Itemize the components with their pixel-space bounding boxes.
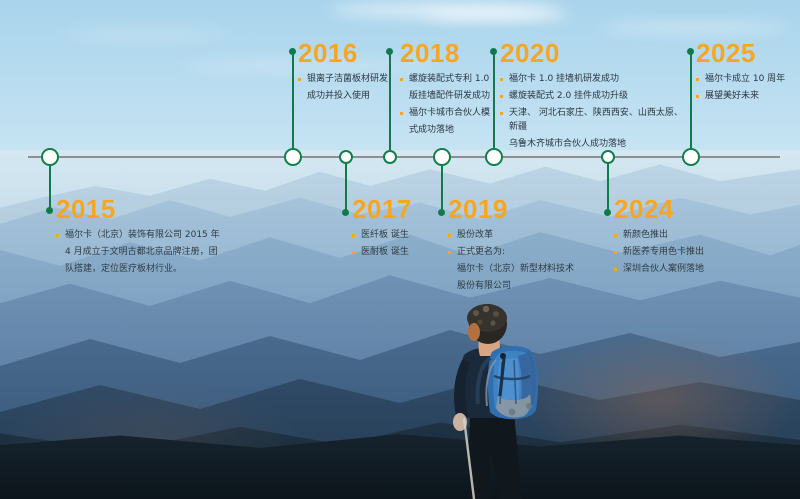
hiker-figure [430,300,560,499]
bullet-list-2024: 新颜色推出 新医养专用色卡推出 深圳合伙人案例落地 [614,229,744,277]
bullet-item-continuation: 队搭建，定位医疗板材行业。 [56,263,256,277]
bullet-list-2016: 银离子洁菌板材研发 成功并投入使用 [298,73,394,104]
timeline-entry-2020: 2020 福尔卡 1.0 挂墙机研发成功 螺旋装配式 2.0 挂件成功升级 天津… [500,40,690,155]
timeline-entry-2024: 2024 新颜色推出 新医养专用色卡推出 深圳合伙人案例落地 [614,196,744,280]
year-label-2024: 2024 [614,196,744,222]
timeline-stem-2017 [345,164,347,212]
bullet-list-2015: 福尔卡（北京）装饰有限公司 2015 年 4 月成立于文明古都北京品牌注册，团 … [56,229,256,277]
timeline-stem-2015 [49,166,51,210]
bullet-list-2025: 福尔卡成立 10 周年 展望美好未来 [696,73,796,104]
timeline-node-2018[interactable] [383,150,397,164]
bullet-item: 天津、 河北石家庄、陕西西安、山西太原、新疆 [500,107,690,135]
bullet-item-continuation: 股份有限公司 [448,280,588,294]
bullet-list-2019: 股份改革 正式更名为: 福尔卡（北京）新型材料技术 股份有限公司 [448,229,588,294]
timeline-stem-2024 [607,164,609,212]
year-label-2019: 2019 [448,196,588,222]
bullet-item: 螺旋装配式 2.0 挂件成功升级 [500,90,690,104]
bullet-item: 展望美好未来 [696,90,796,104]
timeline-node-2017[interactable] [339,150,353,164]
timeline-stem-dot-2016 [289,48,296,55]
year-label-2025: 2025 [696,40,796,66]
bullet-item: 螺旋装配式专利 1.0 [400,73,500,87]
timeline-node-2019[interactable] [433,148,451,166]
timeline-axis [28,156,780,158]
cloud-wisp [600,22,790,34]
bullet-item-continuation: 福尔卡（北京）新型材料技术 [448,263,588,277]
bullet-item-continuation: 式成功落地 [400,124,500,138]
bullet-item: 福尔卡 1.0 挂墙机研发成功 [500,73,690,87]
timeline-entry-2015: 2015 福尔卡（北京）装饰有限公司 2015 年 4 月成立于文明古都北京品牌… [56,196,256,280]
timeline-infographic: 2015 福尔卡（北京）装饰有限公司 2015 年 4 月成立于文明古都北京品牌… [0,0,800,499]
bullet-item: 银离子洁菌板材研发 [298,73,394,87]
bullet-list-2017: 医纤板 诞生 医耐板 诞生 [352,229,442,260]
bullet-item: 新医养专用色卡推出 [614,246,744,260]
year-label-2017: 2017 [352,196,442,222]
timeline-entry-2016: 2016 银离子洁菌板材研发 成功并投入使用 [298,40,394,107]
year-label-2018: 2018 [400,40,500,66]
cloud-wisp [420,10,570,20]
timeline-node-2016[interactable] [284,148,302,166]
bullet-item: 深圳合伙人案例落地 [614,263,744,277]
timeline-entry-2018: 2018 螺旋装配式专利 1.0 版挂墙配件研发成功 福尔卡城市合伙人模 式成功… [400,40,500,141]
year-label-2020: 2020 [500,40,690,66]
bullet-item-continuation: 版挂墙配件研发成功 [400,90,500,104]
bullet-item-continuation: 4 月成立于文明古都北京品牌注册，团 [56,246,256,260]
cloud-wisp [60,30,230,39]
bullet-item-continuation: 成功并投入使用 [298,90,394,104]
bullet-item: 正式更名为: [448,246,588,260]
timeline-entry-2017: 2017 医纤板 诞生 医耐板 诞生 [352,196,442,263]
bullet-item-continuation: 乌鲁木齐城市合伙人成功落地 [500,138,690,152]
bullet-item: 福尔卡成立 10 周年 [696,73,796,87]
timeline-entry-2025: 2025 福尔卡成立 10 周年 展望美好未来 [696,40,796,107]
timeline-node-2015[interactable] [41,148,59,166]
timeline-stem-dot-2024 [604,209,611,216]
timeline-entry-2019: 2019 股份改革 正式更名为: 福尔卡（北京）新型材料技术 股份有限公司 [448,196,588,297]
bullet-list-2020: 福尔卡 1.0 挂墙机研发成功 螺旋装配式 2.0 挂件成功升级 天津、 河北石… [500,73,690,152]
bullet-item: 新颜色推出 [614,229,744,243]
timeline-stem-2016 [292,52,294,148]
timeline-stem-dot-2015 [46,207,53,214]
bullet-item: 医纤板 诞生 [352,229,442,243]
foreground-summit [0,430,800,499]
year-label-2015: 2015 [56,196,256,222]
timeline-stem-2025 [690,52,692,148]
bullet-item: 福尔卡（北京）装饰有限公司 2015 年 [56,229,256,243]
timeline-stem-dot-2017 [342,209,349,216]
bullet-item: 股份改革 [448,229,588,243]
bullet-item: 福尔卡城市合伙人模 [400,107,500,121]
year-label-2016: 2016 [298,40,394,66]
bullet-item: 医耐板 诞生 [352,246,442,260]
bullet-list-2018: 螺旋装配式专利 1.0 版挂墙配件研发成功 福尔卡城市合伙人模 式成功落地 [400,73,500,138]
